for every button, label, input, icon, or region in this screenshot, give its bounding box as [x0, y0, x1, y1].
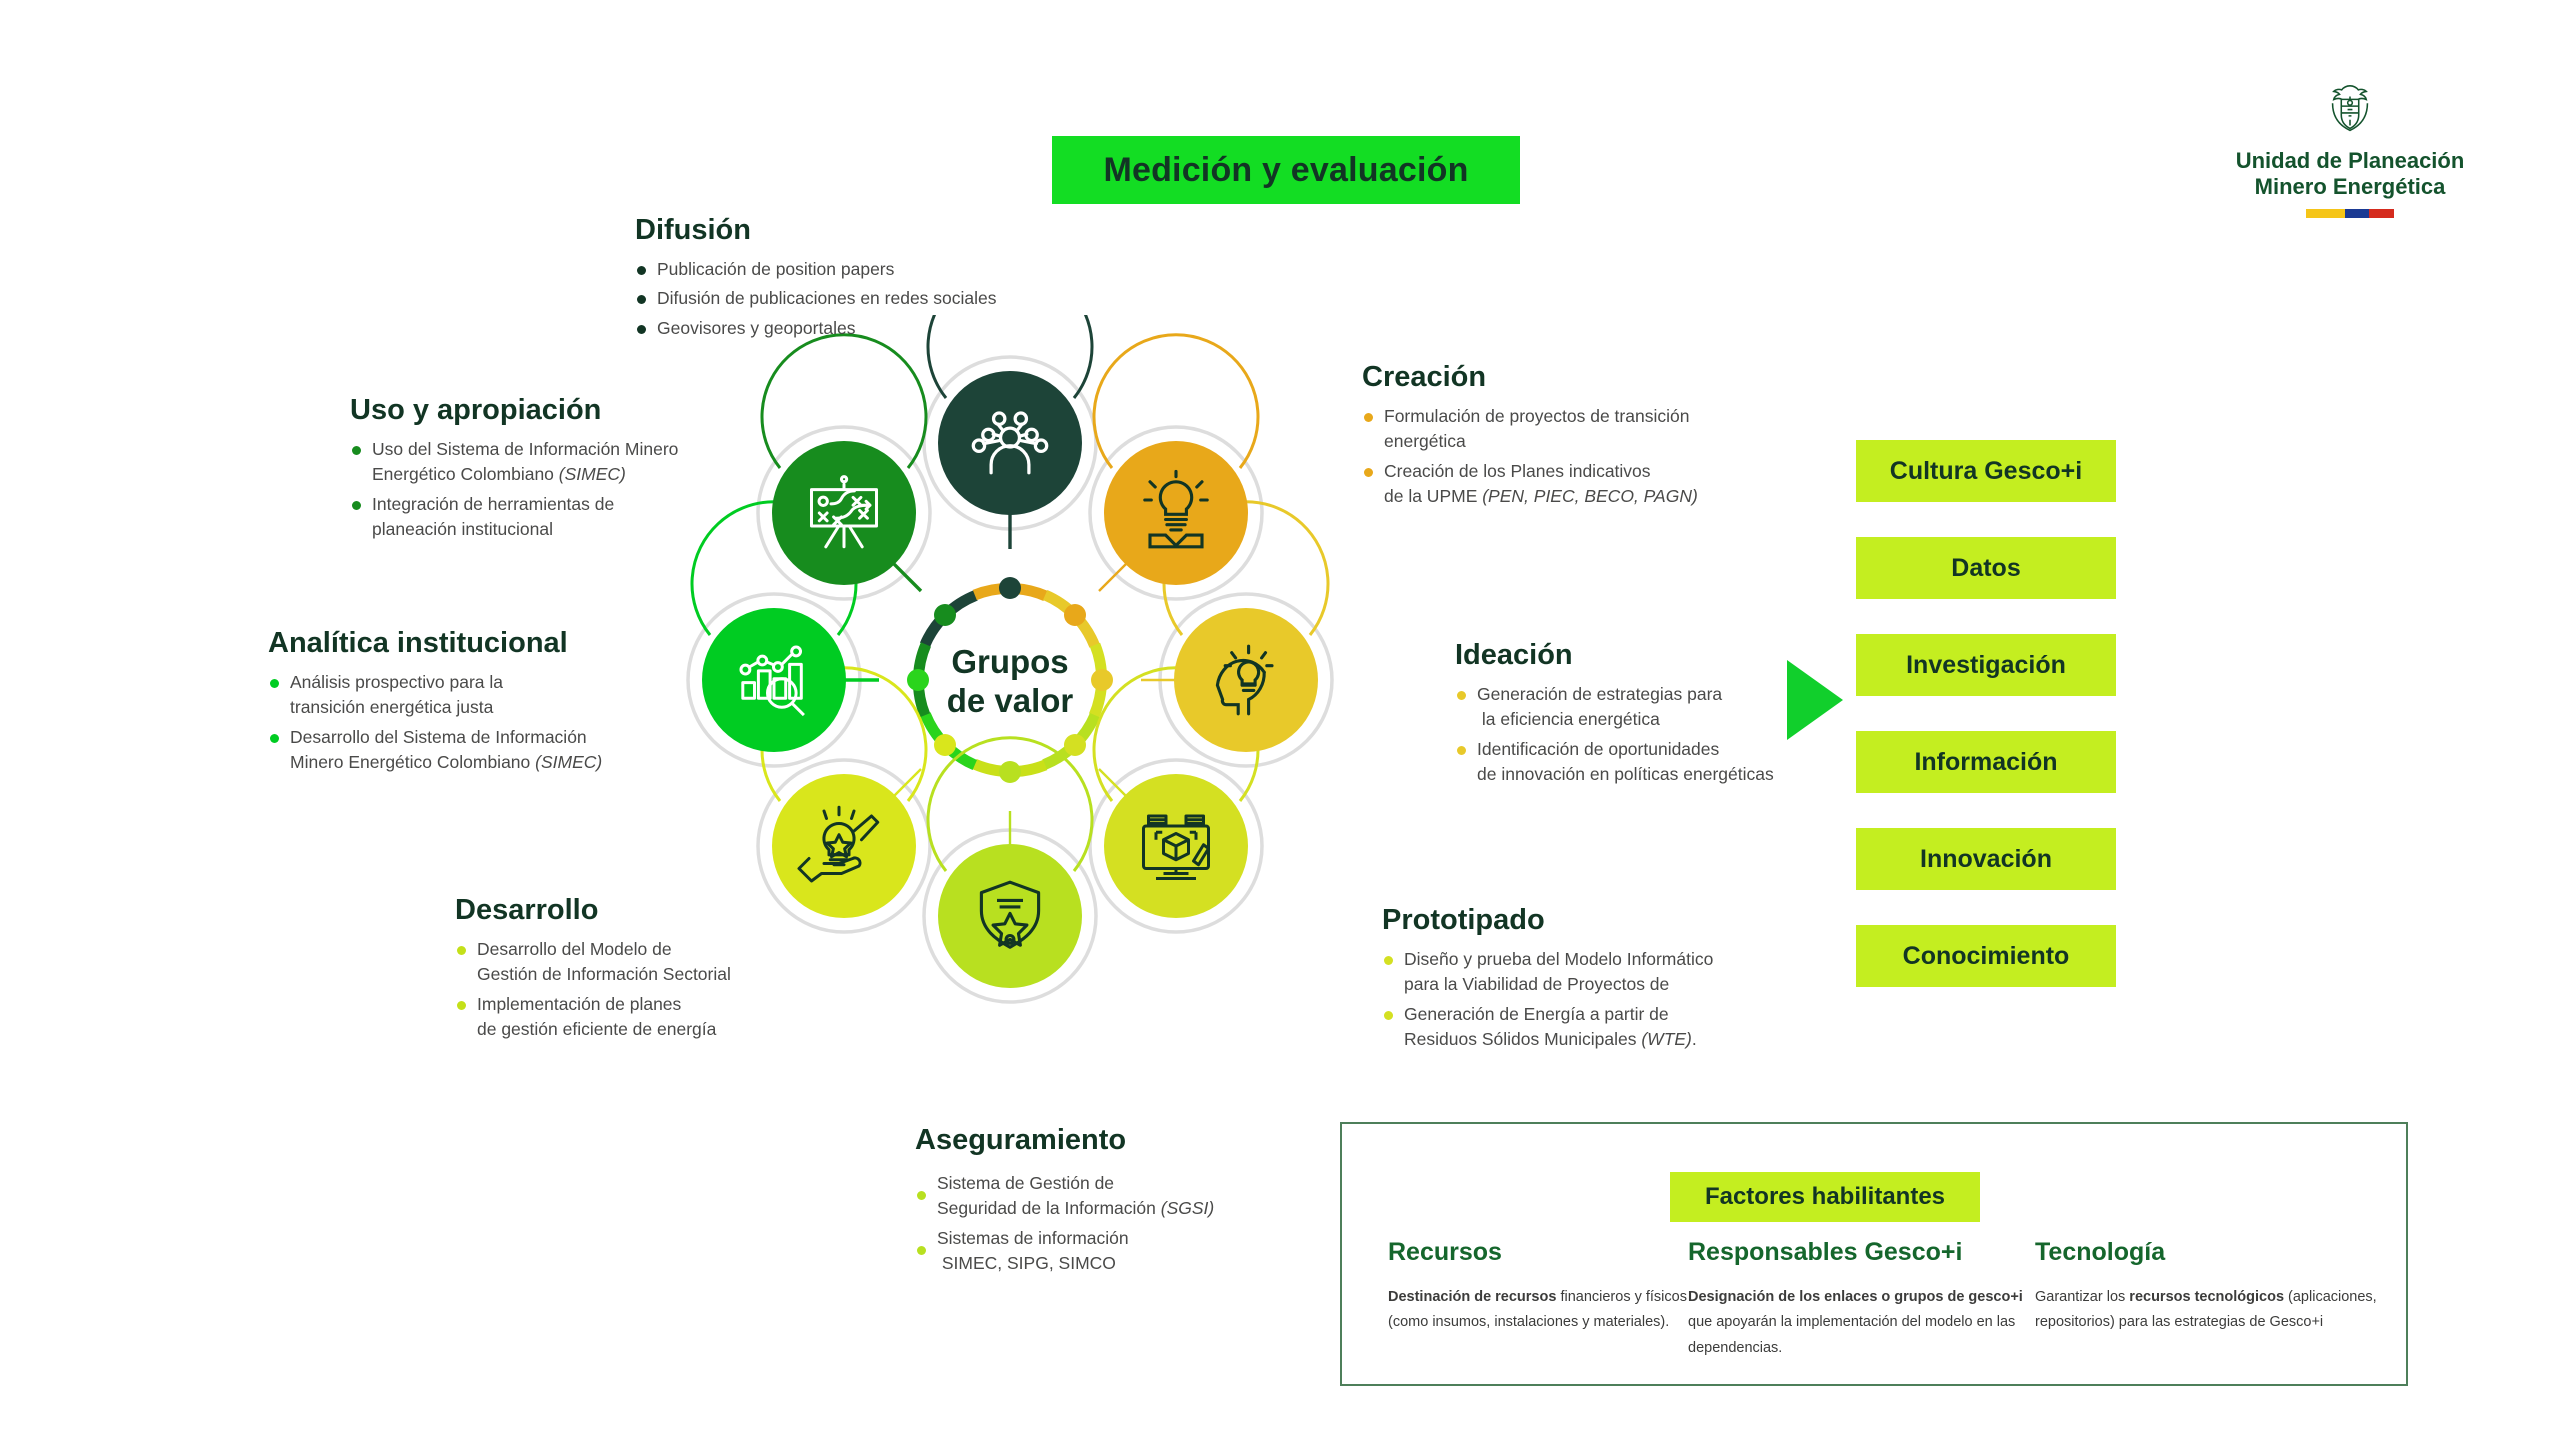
- list-item: Uso del Sistema de Información MineroEne…: [350, 437, 750, 488]
- chip-label: Conocimiento: [1903, 942, 2070, 971]
- section-title-creacion: Creación: [1362, 362, 1762, 394]
- list-item: Difusión de publicaciones en redes socia…: [635, 286, 1065, 311]
- list-item: Geovisores y geoportales: [635, 316, 1065, 341]
- section-aseguramiento: Aseguramiento Sistema de Gestión deSegur…: [915, 1125, 1275, 1280]
- chip-informacion[interactable]: Información: [1856, 731, 2116, 793]
- section-title-desarrollo: Desarrollo: [455, 895, 785, 927]
- list-item: Generación de Energía a partir deResiduo…: [1382, 1002, 1782, 1053]
- list-item: Publicación de position papers: [635, 257, 1065, 282]
- page-title-banner: Medición y evaluación: [1052, 136, 1520, 204]
- section-uso-y-apropiacion: Uso y apropiación Uso del Sistema de Inf…: [350, 395, 750, 546]
- section-list-prototipado: Diseño y prueba del Modelo Informáticopa…: [1382, 947, 1782, 1053]
- chip-innovacion[interactable]: Innovación: [1856, 828, 2116, 890]
- section-title-analitica: Analítica institucional: [268, 628, 688, 660]
- section-analitica-institucional: Analítica institucional Análisis prospec…: [268, 628, 688, 779]
- colombia-coat-of-arms-icon: [2319, 80, 2381, 142]
- chip-datos[interactable]: Datos: [1856, 537, 2116, 599]
- list-item: Sistemas de información SIMEC, SIPG, SIM…: [915, 1226, 1275, 1277]
- wheel-node-creacion[interactable]: [1104, 441, 1248, 585]
- wheel-hub-ring: [900, 570, 1120, 790]
- wheel-node-desarrollo[interactable]: [772, 774, 916, 918]
- chip-conocimiento[interactable]: Conocimiento: [1856, 925, 2116, 987]
- wheel-node-analitica[interactable]: [702, 608, 846, 752]
- list-item: Implementación de planesde gestión efici…: [455, 992, 785, 1043]
- factor-desc-recursos: Destinación de recursos financieros y fí…: [1388, 1285, 1688, 1336]
- factor-title-responsables: Responsables Gesco+i: [1688, 1238, 2028, 1267]
- logo-line-1: Unidad de Planeación: [2180, 148, 2520, 174]
- section-title-difusion: Difusión: [635, 215, 1065, 247]
- section-list-analitica: Análisis prospectivo para latransición e…: [268, 670, 688, 776]
- right-arrow-icon: [1787, 660, 1843, 740]
- factor-desc-responsables: Designación de los enlaces o grupos de g…: [1688, 1285, 2028, 1361]
- chip-label: Información: [1914, 748, 2057, 777]
- list-item: Sistema de Gestión deSeguridad de la Inf…: [915, 1171, 1275, 1222]
- section-list-uso: Uso del Sistema de Información MineroEne…: [350, 437, 750, 543]
- page-title: Medición y evaluación: [1103, 151, 1468, 190]
- section-list-creacion: Formulación de proyectos de transiciónen…: [1362, 404, 1762, 510]
- upme-logo: Unidad de Planeación Minero Energética: [2180, 80, 2520, 218]
- section-list-desarrollo: Desarrollo del Modelo deGestión de Infor…: [455, 937, 785, 1043]
- section-creacion: Creación Formulación de proyectos de tra…: [1362, 362, 1762, 513]
- section-prototipado: Prototipado Diseño y prueba del Modelo I…: [1382, 905, 1782, 1056]
- factor-title-tecnologia: Tecnología: [2035, 1238, 2415, 1267]
- list-item: Desarrollo del Modelo deGestión de Infor…: [455, 937, 785, 988]
- factor-desc-tecnologia: Garantizar los recursos tecnológicos (ap…: [2035, 1285, 2415, 1336]
- section-difusion: Difusión Publicación de position papers …: [635, 215, 1065, 345]
- list-item: Integración de herramientas deplaneación…: [350, 492, 750, 543]
- wheel-node-aseguramiento[interactable]: [938, 844, 1082, 988]
- logo-line-2: Minero Energética: [2180, 174, 2520, 200]
- section-list-difusion: Publicación de position papers Difusión …: [635, 257, 1065, 341]
- chip-label: Investigación: [1906, 651, 2066, 680]
- wheel-node-ideacion[interactable]: [1174, 608, 1318, 752]
- chip-cultura-gesco-i[interactable]: Cultura Gesco+i: [1856, 440, 2116, 502]
- factores-habilitantes-badge: Factores habilitantes: [1670, 1172, 1980, 1222]
- list-item: Creación de los Planes indicativosde la …: [1362, 459, 1762, 510]
- chip-label: Datos: [1951, 554, 2020, 583]
- section-desarrollo: Desarrollo Desarrollo del Modelo deGesti…: [455, 895, 785, 1046]
- infographic-canvas: Medición y evaluación Unidad de Planeaci…: [0, 0, 2560, 1440]
- wheel-node-uso-y-apropiacion[interactable]: [772, 441, 916, 585]
- wheel-node-prototipado[interactable]: [1104, 774, 1248, 918]
- list-item: Análisis prospectivo para latransición e…: [268, 670, 688, 721]
- list-item: Identificación de oportunidadesde innova…: [1455, 737, 1855, 788]
- factor-column-responsables: Responsables Gesco+i Designación de los …: [1688, 1238, 2028, 1361]
- wheel-node-difusion[interactable]: [938, 371, 1082, 515]
- chip-label: Innovación: [1920, 845, 2052, 874]
- list-item: Diseño y prueba del Modelo Informáticopa…: [1382, 947, 1782, 998]
- factor-column-recursos: Recursos Destinación de recursos financi…: [1388, 1238, 1688, 1336]
- factor-column-tecnologia: Tecnología Garantizar los recursos tecno…: [2035, 1238, 2415, 1336]
- factor-title-recursos: Recursos: [1388, 1238, 1688, 1267]
- chip-label: Cultura Gesco+i: [1890, 457, 2082, 486]
- wheel-hub-dots: [907, 577, 1113, 783]
- section-title-prototipado: Prototipado: [1382, 905, 1782, 937]
- section-title-uso: Uso y apropiación: [350, 395, 750, 427]
- chip-investigacion[interactable]: Investigación: [1856, 634, 2116, 696]
- colombia-flag-bar: [2306, 209, 2394, 218]
- factores-habilitantes-label: Factores habilitantes: [1705, 1183, 1945, 1211]
- gesco-pillars-list: Cultura Gesco+i Datos Investigación Info…: [1856, 440, 2116, 1022]
- list-item: Desarrollo del Sistema de InformaciónMin…: [268, 725, 688, 776]
- section-list-aseguramiento: Sistema de Gestión deSeguridad de la Inf…: [915, 1171, 1275, 1277]
- section-title-aseguramiento: Aseguramiento: [915, 1125, 1275, 1157]
- list-item: Formulación de proyectos de transiciónen…: [1362, 404, 1762, 455]
